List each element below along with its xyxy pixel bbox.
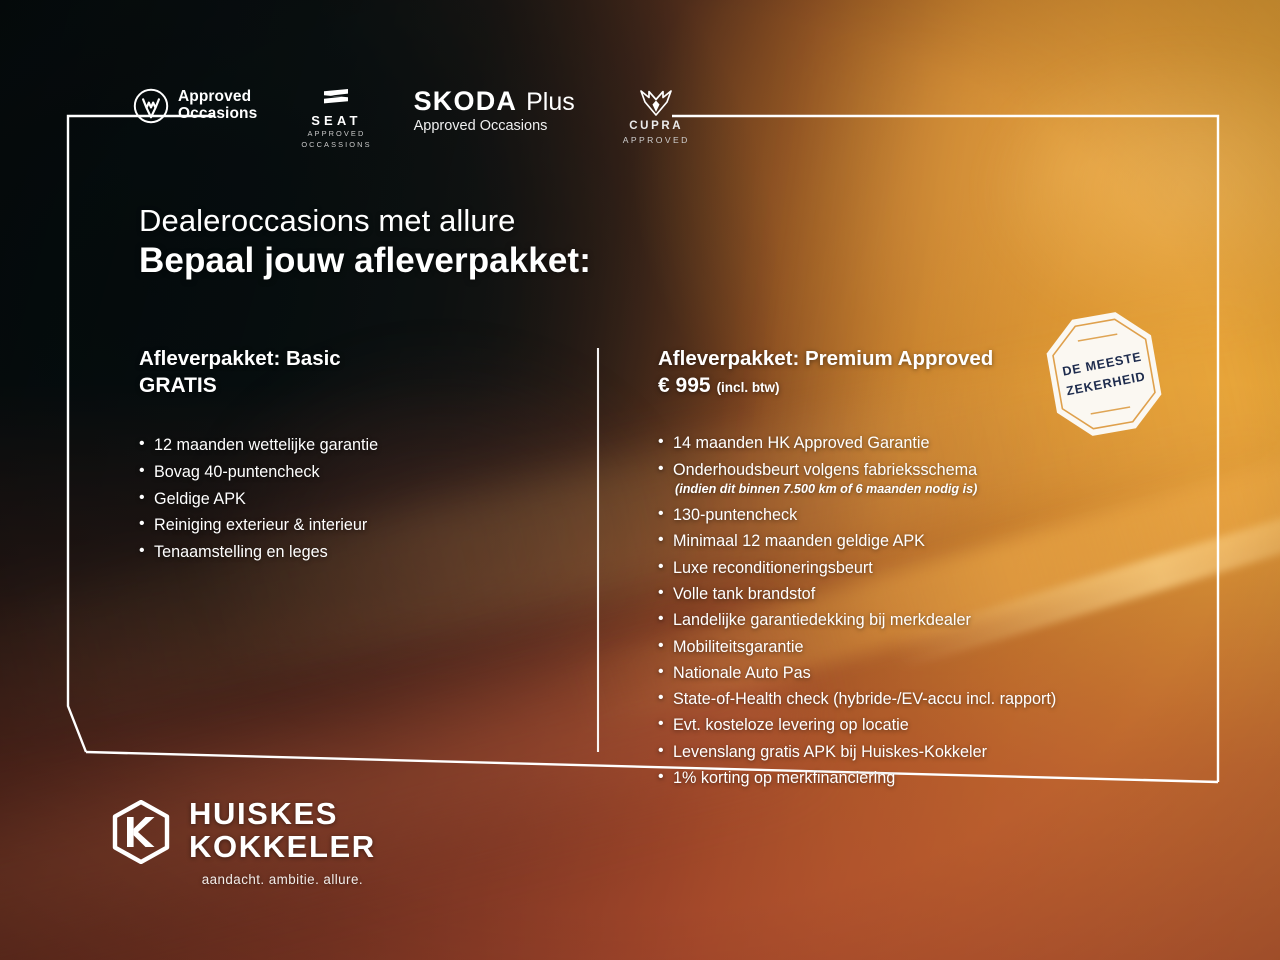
seat-sublabel: APPROVED OCCASSIONS: [301, 129, 371, 150]
list-item: Luxe reconditioneringsbeurt: [658, 560, 1138, 576]
skoda-wordmark: SKODA: [414, 88, 518, 115]
volkswagen-logo-icon: [133, 88, 169, 124]
company-name-line1: HUISKES: [189, 798, 376, 831]
list-item-note: (indien dit binnen 7.500 km of 6 maanden…: [673, 482, 1138, 497]
brand-volkswagen: Approved Occasions: [133, 88, 257, 124]
huiskes-kokkeler-monogram-icon: [110, 800, 172, 864]
list-item: State-of-Health check (hybride-/EV-accu …: [658, 691, 1138, 707]
cupra-sublabel: APPROVED: [623, 136, 690, 145]
page-headline: Bepaal jouw afleverpakket:: [139, 241, 591, 281]
premium-price-note: (incl. btw): [717, 380, 780, 395]
list-item: Geldige APK: [139, 491, 569, 507]
cupra-wordmark: CUPRA: [629, 121, 683, 133]
basic-feature-list: 12 maanden wettelijke garantie Bovag 40-…: [139, 437, 569, 560]
promotional-poster: Approved Occasions SEAT APPROVED OCCASSI…: [0, 0, 1280, 960]
basic-title: Afleverpakket: Basic: [139, 345, 569, 372]
list-item: 130-puntencheck: [658, 507, 1138, 523]
brand-seat: SEAT APPROVED OCCASSIONS: [301, 88, 371, 150]
list-item: 1% korting op merkfinanciering: [658, 770, 1138, 786]
list-item: Volle tank brandstof: [658, 586, 1138, 602]
seat-logo-icon: [321, 88, 351, 110]
brand-logo-row: Approved Occasions SEAT APPROVED OCCASSI…: [133, 88, 690, 156]
badge-label: DE MEESTE ZEKERHEID: [1029, 297, 1180, 451]
list-item: Mobiliteitsgarantie: [658, 639, 1138, 655]
page-kicker: Dealeroccasions met allure: [139, 203, 516, 239]
basic-price: GRATIS: [139, 372, 569, 399]
seat-wordmark: SEAT: [311, 114, 362, 127]
cupra-logo-icon: [637, 88, 675, 118]
company-tagline: aandacht. ambitie. allure.: [189, 872, 376, 887]
company-logo: HUISKES KOKKELER aandacht. ambitie. allu…: [110, 798, 376, 887]
skoda-plus-label: Plus: [526, 90, 575, 115]
status-badge: DE MEESTE ZEKERHEID: [1040, 308, 1168, 440]
list-item: Minimaal 12 maanden geldige APK: [658, 533, 1138, 549]
company-name-line2: KOKKELER: [189, 831, 376, 864]
list-item: Nationale Auto Pas: [658, 665, 1138, 681]
premium-feature-list: 14 maanden HK Approved Garantie Onderhou…: [658, 435, 1138, 786]
list-item: 12 maanden wettelijke garantie: [139, 437, 569, 453]
list-item: Levenslang gratis APK bij Huiskes-Kokkel…: [658, 744, 1138, 760]
list-item: Tenaamstelling en leges: [139, 544, 569, 560]
list-item: Bovag 40-puntencheck: [139, 464, 569, 480]
list-item: Landelijke garantiedekking bij merkdeale…: [658, 612, 1138, 628]
brand-cupra: CUPRA APPROVED: [623, 88, 690, 144]
list-item: Onderhoudsbeurt volgens fabrieksschema(i…: [658, 462, 1138, 497]
list-item: Evt. kosteloze levering op locatie: [658, 717, 1138, 733]
volkswagen-label: Approved Occasions: [178, 89, 257, 122]
package-column-basic: Afleverpakket: Basic GRATIS 12 maanden w…: [139, 345, 569, 570]
list-item: Reiniging exterieur & interieur: [139, 517, 569, 533]
skoda-sublabel: Approved Occasions: [414, 117, 548, 135]
brand-skoda: SKODA Plus Approved Occasions: [414, 88, 575, 135]
premium-price-value: € 995: [658, 374, 711, 397]
